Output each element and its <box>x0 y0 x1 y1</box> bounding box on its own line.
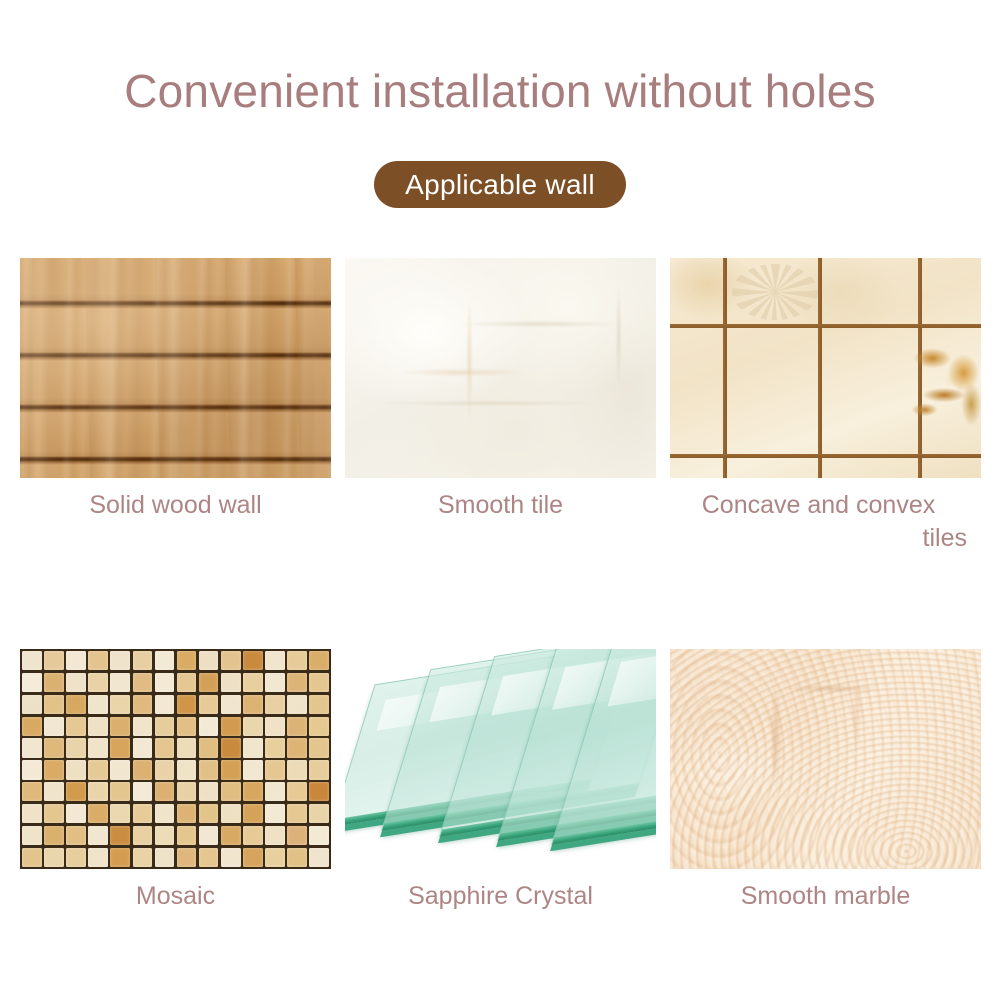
mosaic-tile <box>155 651 175 670</box>
mosaic-tile <box>66 695 86 714</box>
mosaic-tile <box>66 760 86 779</box>
mosaic-tile <box>22 717 42 736</box>
mosaic-tile <box>199 826 219 845</box>
mosaic-tile <box>44 760 64 779</box>
mosaic-tile <box>155 804 175 823</box>
mosaic-tile <box>309 782 329 801</box>
mosaic-tile <box>155 826 175 845</box>
smooth-marble-image <box>670 649 981 869</box>
mosaic-tile <box>44 673 64 692</box>
mosaic-tile <box>133 782 153 801</box>
mosaic-tile <box>133 760 153 779</box>
mosaic-tile <box>199 673 219 692</box>
mosaic-tile <box>177 673 197 692</box>
mosaic-tile <box>155 848 175 867</box>
mosaic-tile <box>88 651 108 670</box>
mosaic-tile <box>66 848 86 867</box>
mosaic-tile <box>265 717 285 736</box>
mosaic-tile <box>22 738 42 757</box>
mosaic-tile <box>309 717 329 736</box>
mosaic-tile <box>309 738 329 757</box>
mosaic-tile <box>22 782 42 801</box>
mosaic-tile <box>243 782 263 801</box>
mosaic-tile <box>309 848 329 867</box>
row-gap <box>20 555 980 649</box>
page-title: Convenient installation without holes <box>0 62 1000 120</box>
mosaic-tile <box>309 826 329 845</box>
mosaic-tile <box>199 738 219 757</box>
mosaic-tile <box>265 760 285 779</box>
mosaic-tile <box>265 673 285 692</box>
mosaic-label: Mosaic <box>20 880 331 913</box>
mosaic-tile <box>133 738 153 757</box>
mosaic-tile <box>199 717 219 736</box>
mosaic-tile <box>22 760 42 779</box>
grid-row-1: Solid wood wall Smooth tile Concave and … <box>20 258 980 555</box>
mosaic-tile <box>44 848 64 867</box>
mosaic-tile <box>44 695 64 714</box>
mosaic-tile <box>287 826 307 845</box>
smooth-tile-label: Smooth tile <box>345 489 656 522</box>
mosaic-tile <box>177 651 197 670</box>
wood-plank-texture <box>20 258 331 478</box>
mosaic-tile <box>177 695 197 714</box>
mosaic-tile <box>221 782 241 801</box>
mosaic-tile <box>265 826 285 845</box>
mosaic-tile <box>155 782 175 801</box>
mosaic-tile <box>22 848 42 867</box>
mosaic-tile <box>243 717 263 736</box>
mosaic-tile <box>110 738 130 757</box>
mosaic-tile <box>155 673 175 692</box>
mosaic-tile <box>44 738 64 757</box>
mosaic-tile <box>177 848 197 867</box>
mosaic-tile <box>287 651 307 670</box>
mosaic-tile <box>88 673 108 692</box>
mosaic-tile <box>221 673 241 692</box>
mosaic-tile <box>177 760 197 779</box>
mosaic-tile <box>110 760 130 779</box>
wall-type-card-sapphire-crystal: Sapphire Crystal <box>345 649 656 913</box>
mosaic-tile <box>287 804 307 823</box>
mosaic-tile <box>199 695 219 714</box>
mosaic-tile <box>155 695 175 714</box>
mosaic-tile <box>22 826 42 845</box>
smooth-marble-label: Smooth marble <box>670 880 981 913</box>
mosaic-tile <box>199 651 219 670</box>
mosaic-tile <box>66 717 86 736</box>
mosaic-tile <box>221 826 241 845</box>
mosaic-tile <box>309 673 329 692</box>
mosaic-tile <box>221 695 241 714</box>
mosaic-tile <box>199 804 219 823</box>
mosaic-tile <box>287 673 307 692</box>
grid-row-2: Mosaic Sapphire Crystal <box>20 649 980 913</box>
ceramic-tile-grid-texture <box>670 258 981 478</box>
glass-panes-texture <box>345 649 656 869</box>
wall-type-card-solid-wood-wall: Solid wood wall <box>20 258 331 555</box>
mosaic-tile <box>199 782 219 801</box>
badge-container: Applicable wall <box>0 161 1000 208</box>
mosaic-tile <box>265 782 285 801</box>
mosaic-tile <box>199 760 219 779</box>
mosaic-tile <box>22 673 42 692</box>
mosaic-tile <box>243 695 263 714</box>
mosaic-tile-grid <box>20 649 331 869</box>
mosaic-tile <box>243 760 263 779</box>
mosaic-tile <box>88 848 108 867</box>
mosaic-tile <box>243 804 263 823</box>
mosaic-tile <box>66 826 86 845</box>
mosaic-tile <box>177 738 197 757</box>
marble-veining-layer-2 <box>670 649 981 869</box>
mosaic-tile <box>309 760 329 779</box>
mosaic-tile <box>221 848 241 867</box>
mosaic-tile <box>265 848 285 867</box>
mosaic-tile <box>243 651 263 670</box>
mosaic-tile <box>88 782 108 801</box>
marble-texture <box>670 649 981 869</box>
mosaic-tile <box>287 738 307 757</box>
mosaic-tile <box>88 804 108 823</box>
mosaic-tile <box>221 760 241 779</box>
mosaic-tile <box>265 695 285 714</box>
mosaic-tile <box>243 673 263 692</box>
mosaic-tile <box>155 738 175 757</box>
mosaic-tile <box>287 695 307 714</box>
mosaic-tile <box>110 717 130 736</box>
mosaic-tile <box>133 717 153 736</box>
mosaic-tile <box>133 848 153 867</box>
mosaic-tile <box>155 717 175 736</box>
mosaic-tile <box>110 695 130 714</box>
mosaic-tile <box>88 717 108 736</box>
mosaic-tile <box>199 848 219 867</box>
mosaic-tile <box>66 651 86 670</box>
concave-and-convex-tiles-image <box>670 258 981 478</box>
applicable-wall-badge: Applicable wall <box>374 161 626 208</box>
mosaic-tile <box>265 804 285 823</box>
mosaic-tile <box>22 695 42 714</box>
label-line-1: Concave and convex <box>670 489 967 522</box>
mosaic-tile <box>66 738 86 757</box>
mosaic-tile <box>243 738 263 757</box>
mosaic-tile <box>110 826 130 845</box>
mosaic-tile <box>309 651 329 670</box>
mosaic-tile <box>243 848 263 867</box>
tile-floral-motif-icon <box>909 338 981 430</box>
mosaic-tile <box>44 782 64 801</box>
mosaic-tile <box>287 760 307 779</box>
mosaic-tile <box>221 738 241 757</box>
page-root: Convenient installation without holes Ap… <box>0 0 1000 1000</box>
mosaic-tile <box>66 804 86 823</box>
mosaic-tile <box>133 695 153 714</box>
mosaic-tile <box>309 804 329 823</box>
mosaic-tile <box>44 826 64 845</box>
mosaic-tile <box>177 717 197 736</box>
mosaic-tile <box>287 717 307 736</box>
mosaic-tile <box>44 717 64 736</box>
mosaic-texture <box>20 649 331 869</box>
wall-type-card-smooth-marble: Smooth marble <box>670 649 981 913</box>
sapphire-crystal-label: Sapphire Crystal <box>345 880 656 913</box>
mosaic-tile <box>133 651 153 670</box>
wall-type-card-concave-and-convex-tiles: Concave and convex tiles <box>670 258 981 555</box>
mosaic-tile <box>44 804 64 823</box>
mosaic-tile <box>110 848 130 867</box>
mosaic-tile <box>88 760 108 779</box>
label-line-2: tiles <box>670 522 967 555</box>
mosaic-tile <box>133 673 153 692</box>
mosaic-tile <box>265 738 285 757</box>
mosaic-tile <box>177 782 197 801</box>
mosaic-tile <box>221 651 241 670</box>
mosaic-tile <box>155 760 175 779</box>
mosaic-tile <box>110 782 130 801</box>
mosaic-tile <box>110 673 130 692</box>
mosaic-tile <box>243 826 263 845</box>
mosaic-tile <box>133 826 153 845</box>
smooth-tile-image <box>345 258 656 478</box>
wall-type-grid: Solid wood wall Smooth tile Concave and … <box>20 258 980 913</box>
mosaic-tile <box>287 848 307 867</box>
tile-relief-motif-icon <box>732 264 818 320</box>
mosaic-image <box>20 649 331 869</box>
mosaic-tile <box>22 804 42 823</box>
mosaic-tile <box>88 695 108 714</box>
mosaic-tile <box>110 651 130 670</box>
mosaic-tile <box>44 651 64 670</box>
mosaic-tile <box>221 717 241 736</box>
mosaic-tile <box>110 804 130 823</box>
mosaic-tile <box>66 782 86 801</box>
mosaic-tile <box>66 673 86 692</box>
mosaic-tile <box>265 651 285 670</box>
solid-wood-wall-image <box>20 258 331 478</box>
mosaic-tile <box>309 695 329 714</box>
mosaic-tile <box>221 804 241 823</box>
wall-type-card-mosaic: Mosaic <box>20 649 331 913</box>
wall-type-card-smooth-tile: Smooth tile <box>345 258 656 555</box>
mosaic-tile <box>177 826 197 845</box>
solid-wood-wall-label: Solid wood wall <box>20 489 331 522</box>
mosaic-tile <box>22 651 42 670</box>
mosaic-tile <box>133 804 153 823</box>
sapphire-crystal-image <box>345 649 656 869</box>
mosaic-tile <box>177 804 197 823</box>
mosaic-tile <box>88 738 108 757</box>
smooth-tile-texture <box>345 258 656 478</box>
mosaic-tile <box>287 782 307 801</box>
concave-and-convex-tiles-label: Concave and convex tiles <box>670 489 981 555</box>
mosaic-tile <box>88 826 108 845</box>
